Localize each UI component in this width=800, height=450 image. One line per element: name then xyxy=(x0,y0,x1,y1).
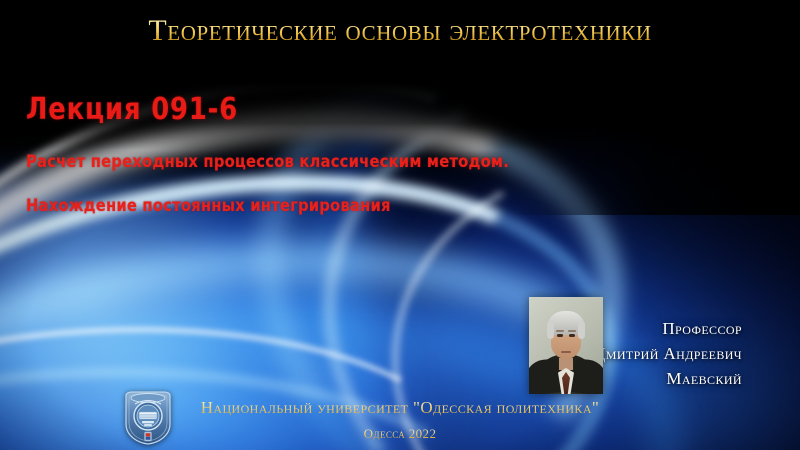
subtitle-line-1: Расчет переходных процессов классическим… xyxy=(26,152,509,172)
photo-hair-side-right xyxy=(578,321,585,339)
photo-eye-left xyxy=(557,334,563,337)
photo-hair-side-left xyxy=(547,321,554,339)
presenter-photo xyxy=(529,297,603,394)
photo-eye-right xyxy=(569,334,575,337)
photo-shoulder-left xyxy=(529,358,561,394)
photo-mouth xyxy=(561,351,571,353)
subtitle-line-2: Нахождение постоянных интегрирования xyxy=(26,196,391,216)
presenter-surname: Маевский xyxy=(594,366,742,391)
photo-brow-left xyxy=(556,330,564,332)
photo-shoulder-right xyxy=(571,358,603,394)
lecture-title-slide: Теоретические основы электротехники Лекц… xyxy=(0,0,800,450)
university-crest-icon xyxy=(122,390,174,446)
presenter-first-patronymic: Дмитрий Андреевич xyxy=(594,341,742,366)
lecture-number: Лекция 091-6 xyxy=(26,92,238,127)
slide-title: Теоретические основы электротехники xyxy=(0,14,800,48)
presenter-role: Профессор xyxy=(594,316,742,341)
photo-brow-right xyxy=(568,330,576,332)
university-name: Национальный университет "Одесская полит… xyxy=(0,398,800,418)
city-year: Одесса 2022 xyxy=(0,426,800,442)
presenter-credits: Профессор Дмитрий Андреевич Маевский xyxy=(594,316,742,391)
